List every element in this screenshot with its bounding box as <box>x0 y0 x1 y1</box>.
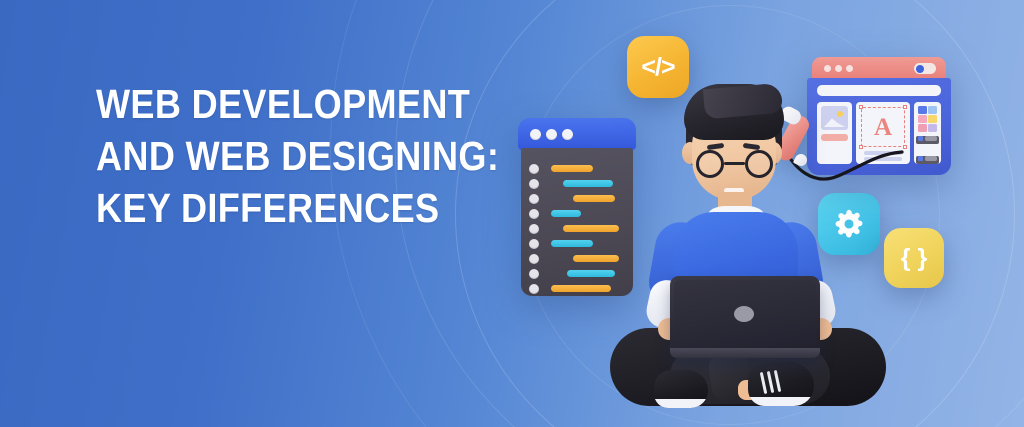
selection-handle <box>903 105 907 109</box>
tool-swatch <box>918 146 923 151</box>
color-swatch <box>918 124 927 132</box>
code-tag-glyph: </> <box>641 53 674 82</box>
glasses-lens-right <box>745 150 773 178</box>
tool-bar <box>925 156 937 161</box>
shoe-stripe <box>774 370 782 392</box>
color-swatch <box>918 106 927 114</box>
headline-line-2: AND WEB DESIGNING: <box>96 130 448 182</box>
laptop-base <box>670 348 820 358</box>
tool-bar <box>925 136 937 141</box>
glasses-bridge <box>724 162 745 165</box>
code-line-bar <box>563 225 619 232</box>
headline-line-3: KEY DIFFERENCES <box>96 182 448 234</box>
shoe-sole <box>748 397 814 406</box>
code-bullet <box>529 254 539 264</box>
color-swatch <box>928 115 937 123</box>
code-bullet <box>529 194 539 204</box>
tool-swatch <box>918 156 923 161</box>
headline-line-1: WEB DEVELOPMENT <box>96 78 448 130</box>
tool-bar <box>925 146 937 151</box>
glasses-icon <box>696 150 773 180</box>
character-illustration <box>612 80 882 427</box>
shoe-stripe <box>767 371 775 393</box>
code-line-bar <box>551 165 593 172</box>
code-line-bar <box>551 210 581 217</box>
laptop-illustration <box>670 276 820 358</box>
color-swatch <box>918 115 927 123</box>
selection-handle <box>903 145 907 149</box>
code-line-bar <box>563 180 613 187</box>
tool-swatch <box>918 136 923 141</box>
window-dot-2 <box>546 129 557 140</box>
window-dot-1 <box>530 129 541 140</box>
window-dot-1 <box>824 65 831 72</box>
code-bullet <box>529 209 539 219</box>
curly-braces-glyph: { } <box>901 244 927 273</box>
glasses-lens-left <box>696 150 724 178</box>
character-shoe-right <box>748 362 814 406</box>
color-swatch <box>928 124 937 132</box>
shoe-stripe <box>760 372 768 394</box>
character-shoe-left <box>654 370 708 408</box>
banner: WEB DEVELOPMENT AND WEB DESIGNING: KEY D… <box>0 0 1024 427</box>
code-line-bar <box>573 195 615 202</box>
color-swatch-grid <box>918 106 937 132</box>
tool-row <box>918 145 937 151</box>
code-line-bar <box>551 285 611 292</box>
laptop-logo <box>734 306 754 322</box>
code-bullet <box>529 179 539 189</box>
tool-row <box>918 155 937 161</box>
code-bullet <box>529 284 539 294</box>
window-dot-3 <box>562 129 573 140</box>
window-dot-2 <box>835 65 842 72</box>
code-bullet <box>529 239 539 249</box>
code-bullet <box>529 269 539 279</box>
curly-braces-icon: { } <box>884 228 944 288</box>
window-dot-3 <box>846 65 853 72</box>
code-line-bar <box>551 240 593 247</box>
tool-row <box>918 135 937 141</box>
color-swatch <box>928 106 937 114</box>
banner-headline: WEB DEVELOPMENT AND WEB DESIGNING: KEY D… <box>96 78 448 234</box>
shoe-sole <box>654 399 708 408</box>
code-bullet <box>529 164 539 174</box>
code-line-bar <box>567 270 615 277</box>
code-bullet <box>529 224 539 234</box>
design-tools-panel <box>914 102 941 164</box>
window-toggle-switch <box>914 63 936 74</box>
